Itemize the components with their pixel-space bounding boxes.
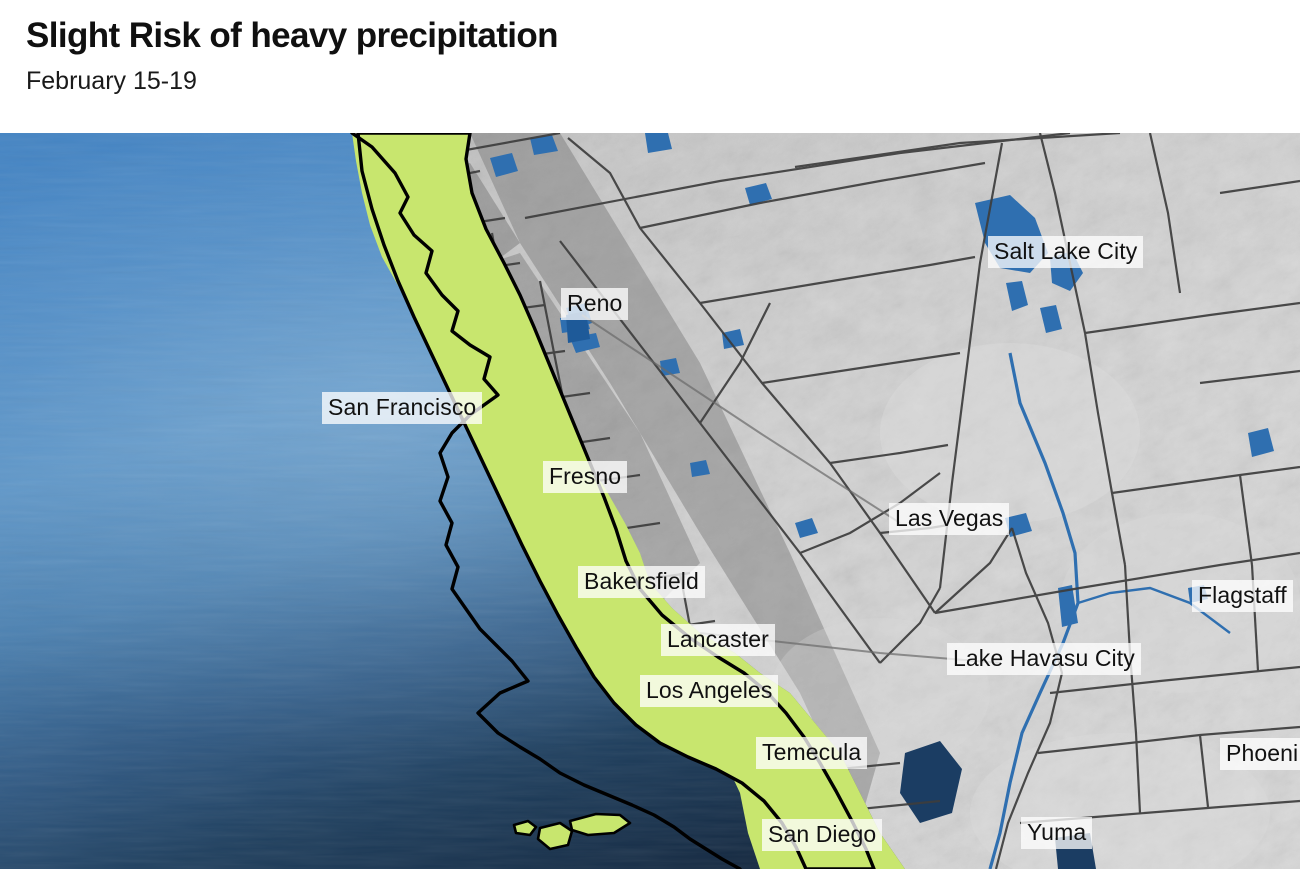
city-label-bakersfield[interactable]: Bakersfield <box>578 566 705 598</box>
city-label-las-vegas[interactable]: Las Vegas <box>889 503 1009 535</box>
city-label-los-angeles[interactable]: Los Angeles <box>640 675 778 707</box>
city-label-temecula[interactable]: Temecula <box>756 737 867 769</box>
city-label-lake-havasu-city[interactable]: Lake Havasu City <box>947 643 1141 675</box>
date-range-subtitle: February 15-19 <box>26 64 1300 98</box>
city-label-san-diego[interactable]: San Diego <box>762 819 882 851</box>
city-label-phoenix[interactable]: Phoeni <box>1220 738 1300 770</box>
city-label-reno[interactable]: Reno <box>561 288 628 320</box>
risk-map[interactable]: Salt Lake City Reno San Francisco Fresno… <box>0 133 1300 869</box>
city-label-flagstaff[interactable]: Flagstaff <box>1192 580 1293 612</box>
city-label-san-francisco[interactable]: San Francisco <box>322 392 482 424</box>
city-label-fresno[interactable]: Fresno <box>543 461 627 493</box>
map-graphic-root: Slight Risk of heavy precipitation Febru… <box>0 0 1300 869</box>
city-label-salt-lake-city[interactable]: Salt Lake City <box>988 236 1143 268</box>
city-label-lancaster[interactable]: Lancaster <box>661 624 775 656</box>
header: Slight Risk of heavy precipitation Febru… <box>0 0 1300 133</box>
city-label-yuma[interactable]: Yuma <box>1021 817 1092 849</box>
page-title: Slight Risk of heavy precipitation <box>26 14 1300 58</box>
